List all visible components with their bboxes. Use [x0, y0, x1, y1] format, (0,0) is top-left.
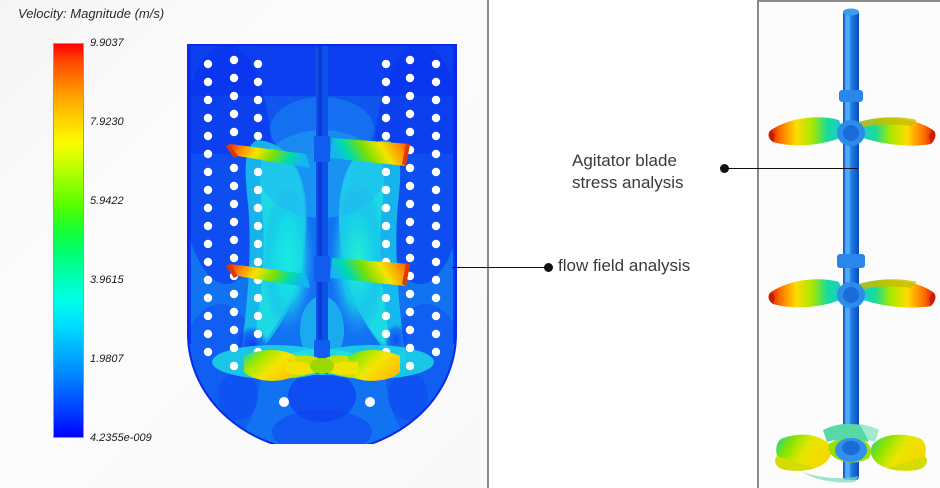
annotation-flow-leader-line [452, 267, 546, 268]
annotation-flow-field-label: flow field analysis [558, 255, 748, 277]
agitator-shaft [314, 44, 330, 374]
annotation-agitator-leader-dot [720, 164, 729, 173]
velocity-color-legend [53, 43, 84, 438]
impeller-stage-2-3d [769, 279, 936, 308]
legend-tick-3: 5.9422 [90, 195, 124, 207]
stirred-tank-contour-plot [186, 44, 458, 444]
legend-tick-2: 3.9615 [90, 274, 124, 286]
agitator-stress-panel [757, 0, 940, 488]
impeller-stage-1-3d [769, 117, 936, 146]
legend-tick-1: 1.9807 [90, 353, 124, 365]
velocity-contour-field [186, 44, 458, 444]
legend-tick-max: 9.9037 [90, 37, 124, 49]
cfd-plot-title: Velocity: Magnitude (m/s) [18, 6, 164, 21]
agitator-shaft-3d [837, 9, 865, 481]
legend-tick-min: 4.2355e-009 [90, 432, 152, 444]
velocity-legend-tick-labels: 9.9037 7.9230 5.9422 3.9615 1.9807 4.235… [90, 43, 210, 438]
cfd-flow-field-panel: Velocity: Magnitude (m/s) 9.9037 7.9230 … [0, 0, 489, 488]
annotation-agitator-blade-stress-label: Agitator blade stress analysis [572, 150, 732, 195]
annotation-agitator-leader-line [728, 168, 760, 169]
annotation-flow-leader-dot [544, 263, 553, 272]
annotation-agitator-leader-line-inner [758, 168, 858, 169]
legend-tick-4: 7.9230 [90, 116, 124, 128]
